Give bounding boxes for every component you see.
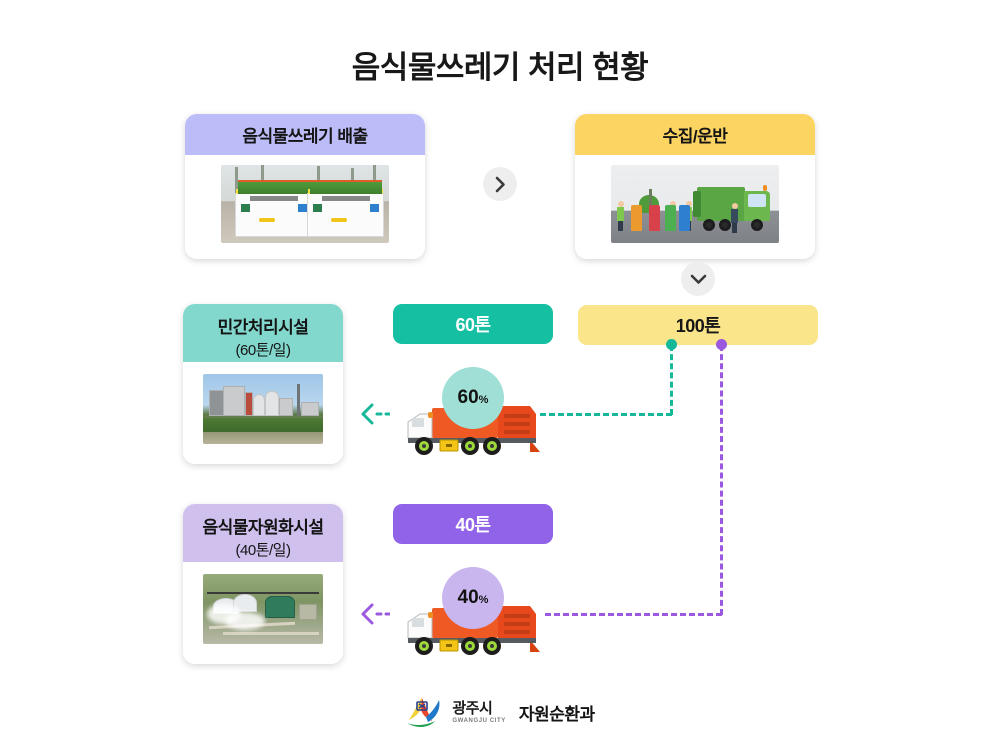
card-subtitle-resource: (40톤/일)	[236, 539, 291, 560]
share-percent-sign-private: %	[479, 369, 489, 431]
share-bubble-private: 60%	[442, 367, 504, 429]
card-header-collect: 수집/운반	[575, 114, 815, 155]
card-title-discharge: 음식물쓰레기 배출	[242, 122, 367, 147]
route-line-private-vertical	[670, 345, 673, 415]
badge-resource-tons: 40톤	[393, 504, 553, 544]
card-food-waste-resource-facility[interactable]: 음식물자원화시설 (40톤/일)	[183, 504, 343, 664]
card-body-collect	[575, 155, 815, 259]
gwangju-city-logo-icon	[405, 695, 443, 729]
card-header-resource: 음식물자원화시설 (40톤/일)	[183, 504, 343, 562]
food-waste-resource-facility-photo	[203, 574, 323, 644]
card-header-private: 민간처리시설 (60톤/일)	[183, 304, 343, 362]
department-name: 자원순환과	[519, 700, 595, 725]
infographic-root: 음식물쓰레기 처리 현황 음식물쓰레기 배출	[0, 0, 1000, 750]
card-body-private	[183, 362, 343, 464]
private-treatment-plant-photo	[203, 374, 323, 444]
card-subtitle-private: (60톤/일)	[236, 339, 291, 360]
arrow-left-private-icon	[360, 403, 390, 425]
card-title-resource: 음식물자원화시설	[202, 513, 323, 538]
route-line-resource-horizontal	[545, 613, 722, 616]
card-header-discharge: 음식물쓰레기 배출	[185, 114, 425, 155]
food-waste-rfid-bins-photo	[221, 165, 389, 243]
route-line-resource-vertical	[720, 345, 723, 615]
card-title-private: 민간처리시설	[218, 313, 309, 338]
gwangju-city-wordmark: 광주시 GWANGJU CITY	[452, 701, 506, 724]
card-body-resource	[183, 562, 343, 664]
chevron-down-icon[interactable]	[681, 262, 715, 296]
card-title-collect: 수집/운반	[663, 122, 728, 147]
share-value-private: 60	[458, 367, 479, 429]
card-body-discharge	[185, 155, 425, 259]
city-name-en: GWANGJU CITY	[452, 718, 506, 724]
share-bubble-resource: 40%	[442, 567, 504, 629]
card-food-waste-discharge[interactable]: 음식물쓰레기 배출	[185, 114, 425, 259]
badge-total-tons: 100톤	[578, 305, 818, 345]
card-private-treatment-facility[interactable]: 민간처리시설 (60톤/일)	[183, 304, 343, 464]
share-percent-sign-resource: %	[479, 569, 489, 631]
collection-truck-illustration	[611, 165, 779, 243]
footer-logo: 광주시 GWANGJU CITY 자원순환과	[0, 695, 1000, 729]
page-title: 음식물쓰레기 처리 현황	[0, 42, 1000, 87]
share-value-resource: 40	[458, 567, 479, 629]
arrow-left-resource-icon	[360, 603, 390, 625]
card-collection-transport[interactable]: 수집/운반	[575, 114, 815, 259]
city-name-ko: 광주시	[452, 701, 492, 716]
route-line-private-horizontal	[540, 413, 672, 416]
chevron-right-icon[interactable]	[483, 167, 517, 201]
badge-private-tons: 60톤	[393, 304, 553, 344]
